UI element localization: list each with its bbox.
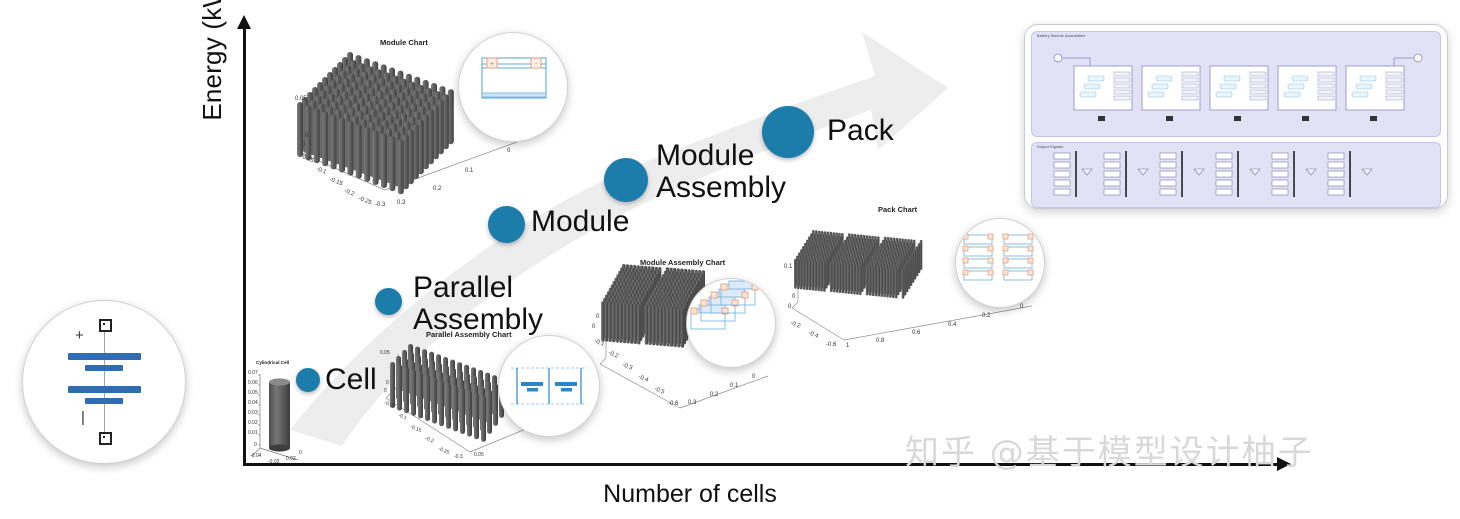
stage-dot-module[interactable] xyxy=(488,206,525,243)
band-title-signals: Output Signals xyxy=(1037,145,1063,149)
battery-module-assemblies-band: Battery Module Assemblies xyxy=(1031,31,1441,137)
plus-sign: + xyxy=(75,327,84,344)
cell-inset: + | xyxy=(22,300,186,464)
pack-inset xyxy=(955,218,1045,308)
chart-title: Module Assembly Chart xyxy=(640,258,725,267)
module-assemblies-schematic-icon xyxy=(1032,32,1442,136)
module-inset: + - xyxy=(458,32,568,142)
positive-terminal-icon xyxy=(99,319,112,332)
stage-dot-parallel-assembly[interactable] xyxy=(375,288,402,315)
x-axis-label: Number of cells xyxy=(560,480,820,509)
pack-schematic-icon xyxy=(956,219,1044,307)
svg-text:+: + xyxy=(490,61,494,68)
y-axis xyxy=(243,28,246,466)
stage-dot-pack[interactable] xyxy=(762,106,814,158)
output-signals-schematic-icon xyxy=(1032,143,1442,207)
module-assembly-schematic-icon xyxy=(687,279,775,367)
stage-label-module-assembly: Module Assembly xyxy=(656,140,786,203)
chart-title: Pack Chart xyxy=(878,205,917,214)
negative-terminal-icon xyxy=(99,432,112,445)
parallel-cells-schematic-icon xyxy=(499,336,599,436)
chart-title: Cylindrical Cell xyxy=(256,360,289,365)
minus-sign: | xyxy=(81,409,85,426)
stage-dot-cell[interactable] xyxy=(296,368,320,392)
module-schematic-icon: + - xyxy=(459,33,567,141)
stage-label-pack: Pack xyxy=(827,115,894,147)
output-signals-band: Output Signals xyxy=(1031,142,1441,208)
y-axis-label: Energy (kWh) xyxy=(197,0,228,150)
diagram-canvas: Energy (kWh) Number of cells + | Cylindr… xyxy=(0,0,1460,519)
band-title-modules: Battery Module Assemblies xyxy=(1037,34,1085,38)
stage-label-module: Module xyxy=(531,206,629,238)
stage-dot-module-assembly[interactable] xyxy=(604,158,648,202)
module-assembly-inset xyxy=(686,278,776,368)
chart-title: Module Chart xyxy=(380,38,428,47)
stage-label-cell: Cell xyxy=(325,364,377,396)
pack-diagram-panel[interactable]: Battery Module Assemblies xyxy=(1024,24,1448,209)
watermark: 知乎 @基于模型设计柚子 xyxy=(905,425,1314,474)
parallel-inset xyxy=(498,335,600,437)
stage-label-parallel-assembly: Parallel Assembly xyxy=(413,272,543,335)
